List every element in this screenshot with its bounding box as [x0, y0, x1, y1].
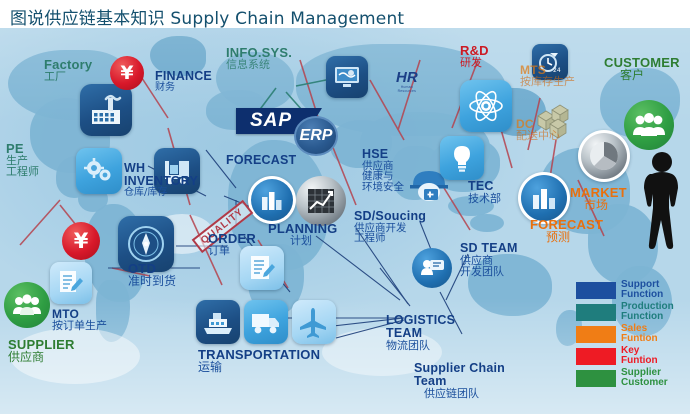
customer-label: CUSTOMER 客户 — [604, 56, 680, 81]
yen-coin-icon: ¥ — [110, 56, 144, 90]
forecast-right-label: FORECAST 预测 — [530, 218, 603, 243]
pie-chart-icon — [578, 130, 630, 182]
legend-item: Supplier Customer — [576, 368, 674, 388]
mto-label: MTO 按订单生产 — [52, 308, 107, 331]
hse-label: HSE 供应商 健康与 环境安全 — [362, 148, 404, 193]
people-group-icon — [4, 282, 50, 328]
legend-item: Production Function — [576, 302, 674, 322]
trend-chart-icon — [296, 176, 346, 226]
mts-label: MTS 按库存生产 — [520, 64, 575, 87]
market-label: MARKET 市场 — [570, 186, 627, 211]
transportation-label: TRANSPORTATION 运输 — [198, 348, 320, 373]
wh-inventory-label: WH INVENTORY 仓库/库存 — [124, 162, 198, 198]
ship-icon — [196, 300, 240, 344]
legend-swatch-sales — [576, 326, 616, 343]
factory-icon — [80, 84, 132, 136]
sd-sourcing-label: SD/Soucing 供应商开发 工程师 — [354, 210, 426, 244]
people-group-icon — [624, 100, 674, 150]
hr-logo-icon: HR Human Resources — [396, 70, 418, 93]
legend-label-sales: Sales Funtion — [621, 324, 658, 344]
atom-icon — [460, 80, 512, 132]
legend-item: Key Funtion — [576, 346, 674, 366]
sd-team-label: SD TEAM 供应商 开发团队 — [460, 242, 518, 277]
yen-coin-icon: ¥ — [62, 222, 100, 260]
legend-label-key: Key Funtion — [621, 346, 658, 366]
legend-item: Support Function — [576, 280, 674, 300]
supply-chain-team-label: Supplier Chain Team 供应链团队 — [414, 362, 505, 399]
customer-person-silhouette — [640, 150, 690, 270]
legend: Support Function Production Function Sal… — [576, 280, 674, 390]
legend-item: Sales Funtion — [576, 324, 674, 344]
bar-chart-icon — [248, 176, 296, 224]
forecast-left-label: FORECAST — [226, 154, 296, 167]
legend-swatch-production — [576, 304, 616, 321]
finance-label: FINANCE 财务 — [155, 70, 212, 93]
legend-swatch-key — [576, 348, 616, 365]
dc-label: DC 配送中心 — [516, 118, 560, 141]
supplier-label: SUPPLIER 供应商 — [8, 338, 75, 363]
legend-swatch-supplier-customer — [576, 370, 616, 387]
legend-label-supplier-customer: Supplier Customer — [621, 368, 668, 388]
computer-network-icon — [326, 56, 368, 98]
legend-label-production: Production Function — [621, 302, 674, 322]
factory-label: Factory 工厂 — [44, 58, 92, 82]
legend-label-support: Support Function — [621, 280, 663, 300]
rnd-label: R&D 研发 — [460, 44, 489, 68]
lightbulb-icon — [440, 136, 484, 180]
truck-icon — [244, 300, 288, 344]
planning-label: PLANNING 计划 — [268, 222, 338, 246]
info-sys-label: INFO.SYS. 信息系统 — [226, 46, 292, 70]
logistics-team-label: LOGISTICS TEAM 物流团队 — [386, 314, 455, 351]
pe-label: PE 生产 工程师 — [6, 142, 39, 178]
order-label: ORDER 订单 — [208, 232, 256, 256]
otd-label: OTD 准时到货 — [128, 262, 176, 287]
chat-people-icon — [412, 248, 452, 288]
infographic-canvas: 图说供应链基本知识 Supply Chain Management — [0, 0, 690, 414]
legend-swatch-support — [576, 282, 616, 299]
tec-label: TEC 技术部 — [468, 180, 501, 204]
erp-logo-icon: ERP — [294, 116, 338, 156]
plane-icon — [292, 300, 336, 344]
gears-icon — [76, 148, 122, 194]
make-to-order-icon — [50, 262, 92, 304]
